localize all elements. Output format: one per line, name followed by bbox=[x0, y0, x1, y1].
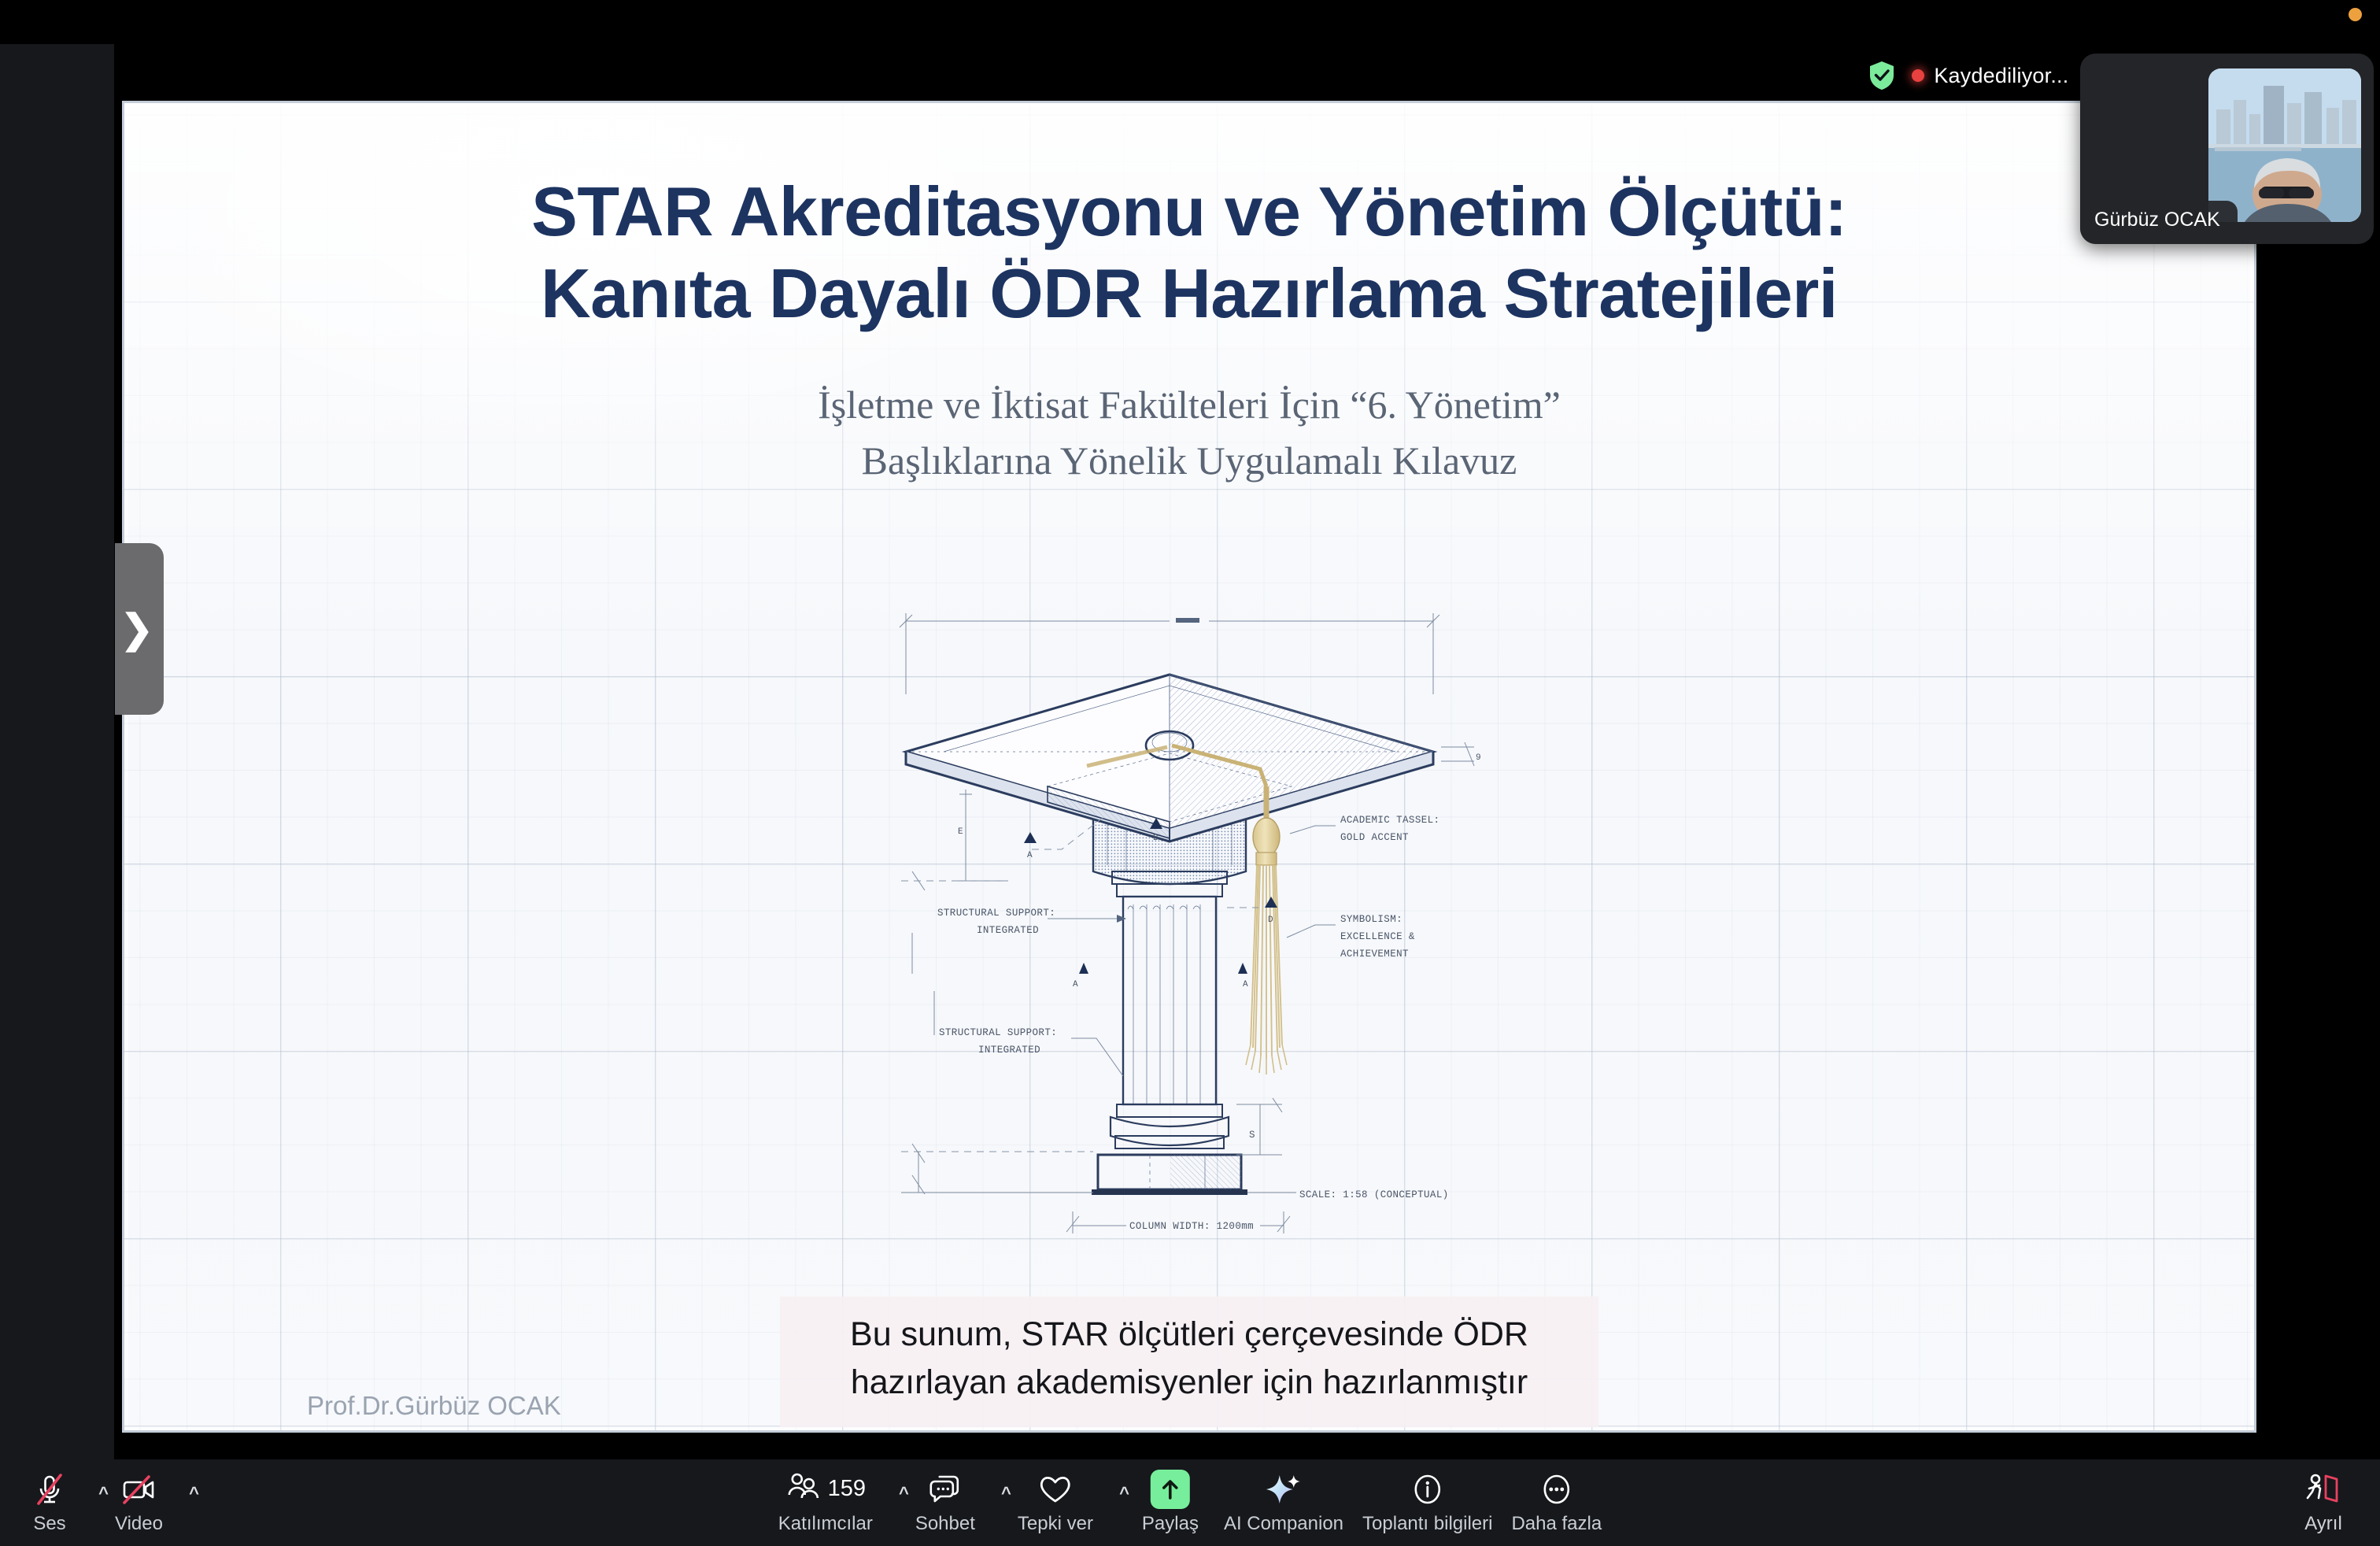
share-screen-icon bbox=[1151, 1470, 1190, 1509]
annot-support1-line-2: INTEGRATED bbox=[977, 925, 1039, 936]
self-view-name-label: Gürbüz OCAK bbox=[2080, 201, 2238, 244]
drawing-mark-a2: A bbox=[1073, 980, 1078, 989]
audio-button[interactable]: Ses ^ bbox=[17, 1459, 105, 1546]
slide-title: STAR Akreditasyonu ve Yönetim Ölçütü: Ka… bbox=[124, 171, 2254, 335]
meeting-info-button[interactable]: Toplantı bilgileri bbox=[1353, 1459, 1502, 1546]
slide-title-line-2: Kanıta Dayalı ÖDR Hazırlama Stratejileri bbox=[124, 253, 2254, 335]
ai-companion-button[interactable]: AI Companion bbox=[1214, 1459, 1353, 1546]
screen-share-stage: STAR Akreditasyonu ve Yönetim Ölçütü: Ka… bbox=[114, 44, 2264, 1502]
video-button[interactable]: Video ^ bbox=[105, 1459, 196, 1546]
heart-icon bbox=[1037, 1471, 1074, 1507]
ai-companion-label: AI Companion bbox=[1224, 1513, 1343, 1535]
more-dots-icon bbox=[1539, 1471, 1574, 1507]
slide-author: Prof.Dr.Gürbüz OCAK bbox=[307, 1391, 561, 1421]
chevron-up-icon[interactable]: ^ bbox=[189, 1483, 199, 1503]
annot-column-width: COLUMN WIDTH: 1200mm bbox=[1129, 1221, 1254, 1232]
leave-meeting-label: Ayrıl bbox=[2304, 1513, 2342, 1535]
annot-symbolism-line-2: EXCELLENCE & bbox=[1340, 931, 1415, 942]
zoom-meeting-window: STAR Akreditasyonu ve Yönetim Ölçütü: Ka… bbox=[0, 0, 2380, 1546]
chat-label: Sohbet bbox=[915, 1513, 975, 1535]
chat-icon bbox=[927, 1471, 963, 1507]
annot-symbolism-line-1: SYMBOLISM: bbox=[1340, 914, 1402, 925]
annot-tassel-line-2: GOLD ACCENT bbox=[1340, 832, 1409, 843]
microphone-muted-icon bbox=[31, 1471, 68, 1507]
drawing-mark-e: E bbox=[958, 827, 963, 837]
info-icon bbox=[1410, 1471, 1445, 1507]
slide-caption-line-1: Bu sunum, STAR ölçütleri çerçevesinde ÖD… bbox=[796, 1311, 1583, 1359]
annot-support1-line-1: STRUCTURAL SUPPORT: bbox=[937, 908, 1055, 919]
side-panel-expander[interactable]: ❯ bbox=[115, 543, 164, 715]
participants-label: Katılımcılar bbox=[778, 1513, 873, 1535]
annot-symbolism-line-3: ACHIEVEMENT bbox=[1340, 949, 1409, 960]
self-view-thumbnail[interactable]: Gürbüz OCAK bbox=[2080, 54, 2374, 244]
recording-dot-icon bbox=[1912, 69, 1924, 82]
top-strip bbox=[114, 0, 2380, 44]
chat-button[interactable]: Sohbet ^ bbox=[906, 1459, 1008, 1546]
reactions-button[interactable]: Tepki ver ^ bbox=[1008, 1459, 1126, 1546]
drawing-mark-d: D bbox=[1268, 915, 1273, 925]
recording-status-label: Kaydediliyor... bbox=[1934, 64, 2068, 88]
leave-meeting-button[interactable]: Ayrıl bbox=[2279, 1459, 2367, 1546]
annot-tassel-line-1: ACADEMIC TASSEL: bbox=[1340, 815, 1439, 826]
recording-indicator[interactable]: Kaydediliyor... bbox=[1912, 64, 2068, 88]
audio-label: Ses bbox=[33, 1513, 65, 1535]
more-options-button[interactable]: Daha fazla bbox=[1502, 1459, 1611, 1546]
slide-caption-line-2: hazırlayan akademisyenler için hazırlanm… bbox=[796, 1359, 1583, 1407]
ai-sparkle-icon bbox=[1265, 1471, 1303, 1507]
left-rail bbox=[0, 44, 114, 1502]
meeting-toolbar: Ses ^ Video ^ bbox=[0, 1459, 2380, 1546]
reactions-label: Tepki ver bbox=[1018, 1513, 1093, 1535]
drawing-mark-9: 9 bbox=[1476, 753, 1481, 763]
shield-check-icon[interactable] bbox=[1868, 60, 1896, 91]
more-options-label: Daha fazla bbox=[1511, 1513, 1602, 1535]
camera-muted-icon bbox=[119, 1471, 158, 1507]
share-screen-button[interactable]: Paylaş bbox=[1126, 1459, 1214, 1546]
participants-button[interactable]: 159 Katılımcılar ^ bbox=[769, 1459, 906, 1546]
participants-count: 159 bbox=[828, 1476, 866, 1502]
drawing-mark-s: S bbox=[1249, 1130, 1255, 1141]
video-label: Video bbox=[115, 1513, 163, 1535]
meeting-info-label: Toplantı bilgileri bbox=[1362, 1513, 1492, 1535]
slide-subtitle: İşletme ve İktisat Fakülteleri İçin “6. … bbox=[124, 377, 2254, 489]
slide-subtitle-line-2: Başlıklarına Yönelik Uygulamalı Kılavuz bbox=[124, 433, 2254, 489]
drawing-mark-a1: A bbox=[1027, 851, 1033, 860]
share-screen-label: Paylaş bbox=[1142, 1513, 1199, 1535]
participants-icon bbox=[785, 1471, 820, 1507]
annot-support2-line-2: INTEGRATED bbox=[978, 1045, 1040, 1056]
leave-door-icon bbox=[2304, 1471, 2343, 1507]
participant-video-tile bbox=[2208, 68, 2361, 222]
annot-support2-line-1: STRUCTURAL SUPPORT: bbox=[939, 1027, 1057, 1038]
slide-caption: Bu sunum, STAR ölçütleri çerçevesinde ÖD… bbox=[780, 1296, 1598, 1427]
drawing-mark-c: A bbox=[1243, 980, 1248, 989]
shared-slide: STAR Akreditasyonu ve Yönetim Ölçütü: Ka… bbox=[122, 101, 2256, 1433]
annot-scale: SCALE: 1:58 (CONCEPTUAL) bbox=[1299, 1189, 1449, 1200]
slide-subtitle-line-1: İşletme ve İktisat Fakülteleri İçin “6. … bbox=[818, 383, 1561, 427]
slide-title-line-1: STAR Akreditasyonu ve Yönetim Ölçütü: bbox=[124, 171, 2254, 253]
drawing-mark-b: B bbox=[1153, 834, 1159, 843]
notification-dot-icon bbox=[2349, 8, 2362, 21]
graduation-cap-blueprint: 9 E bbox=[890, 604, 1488, 1233]
